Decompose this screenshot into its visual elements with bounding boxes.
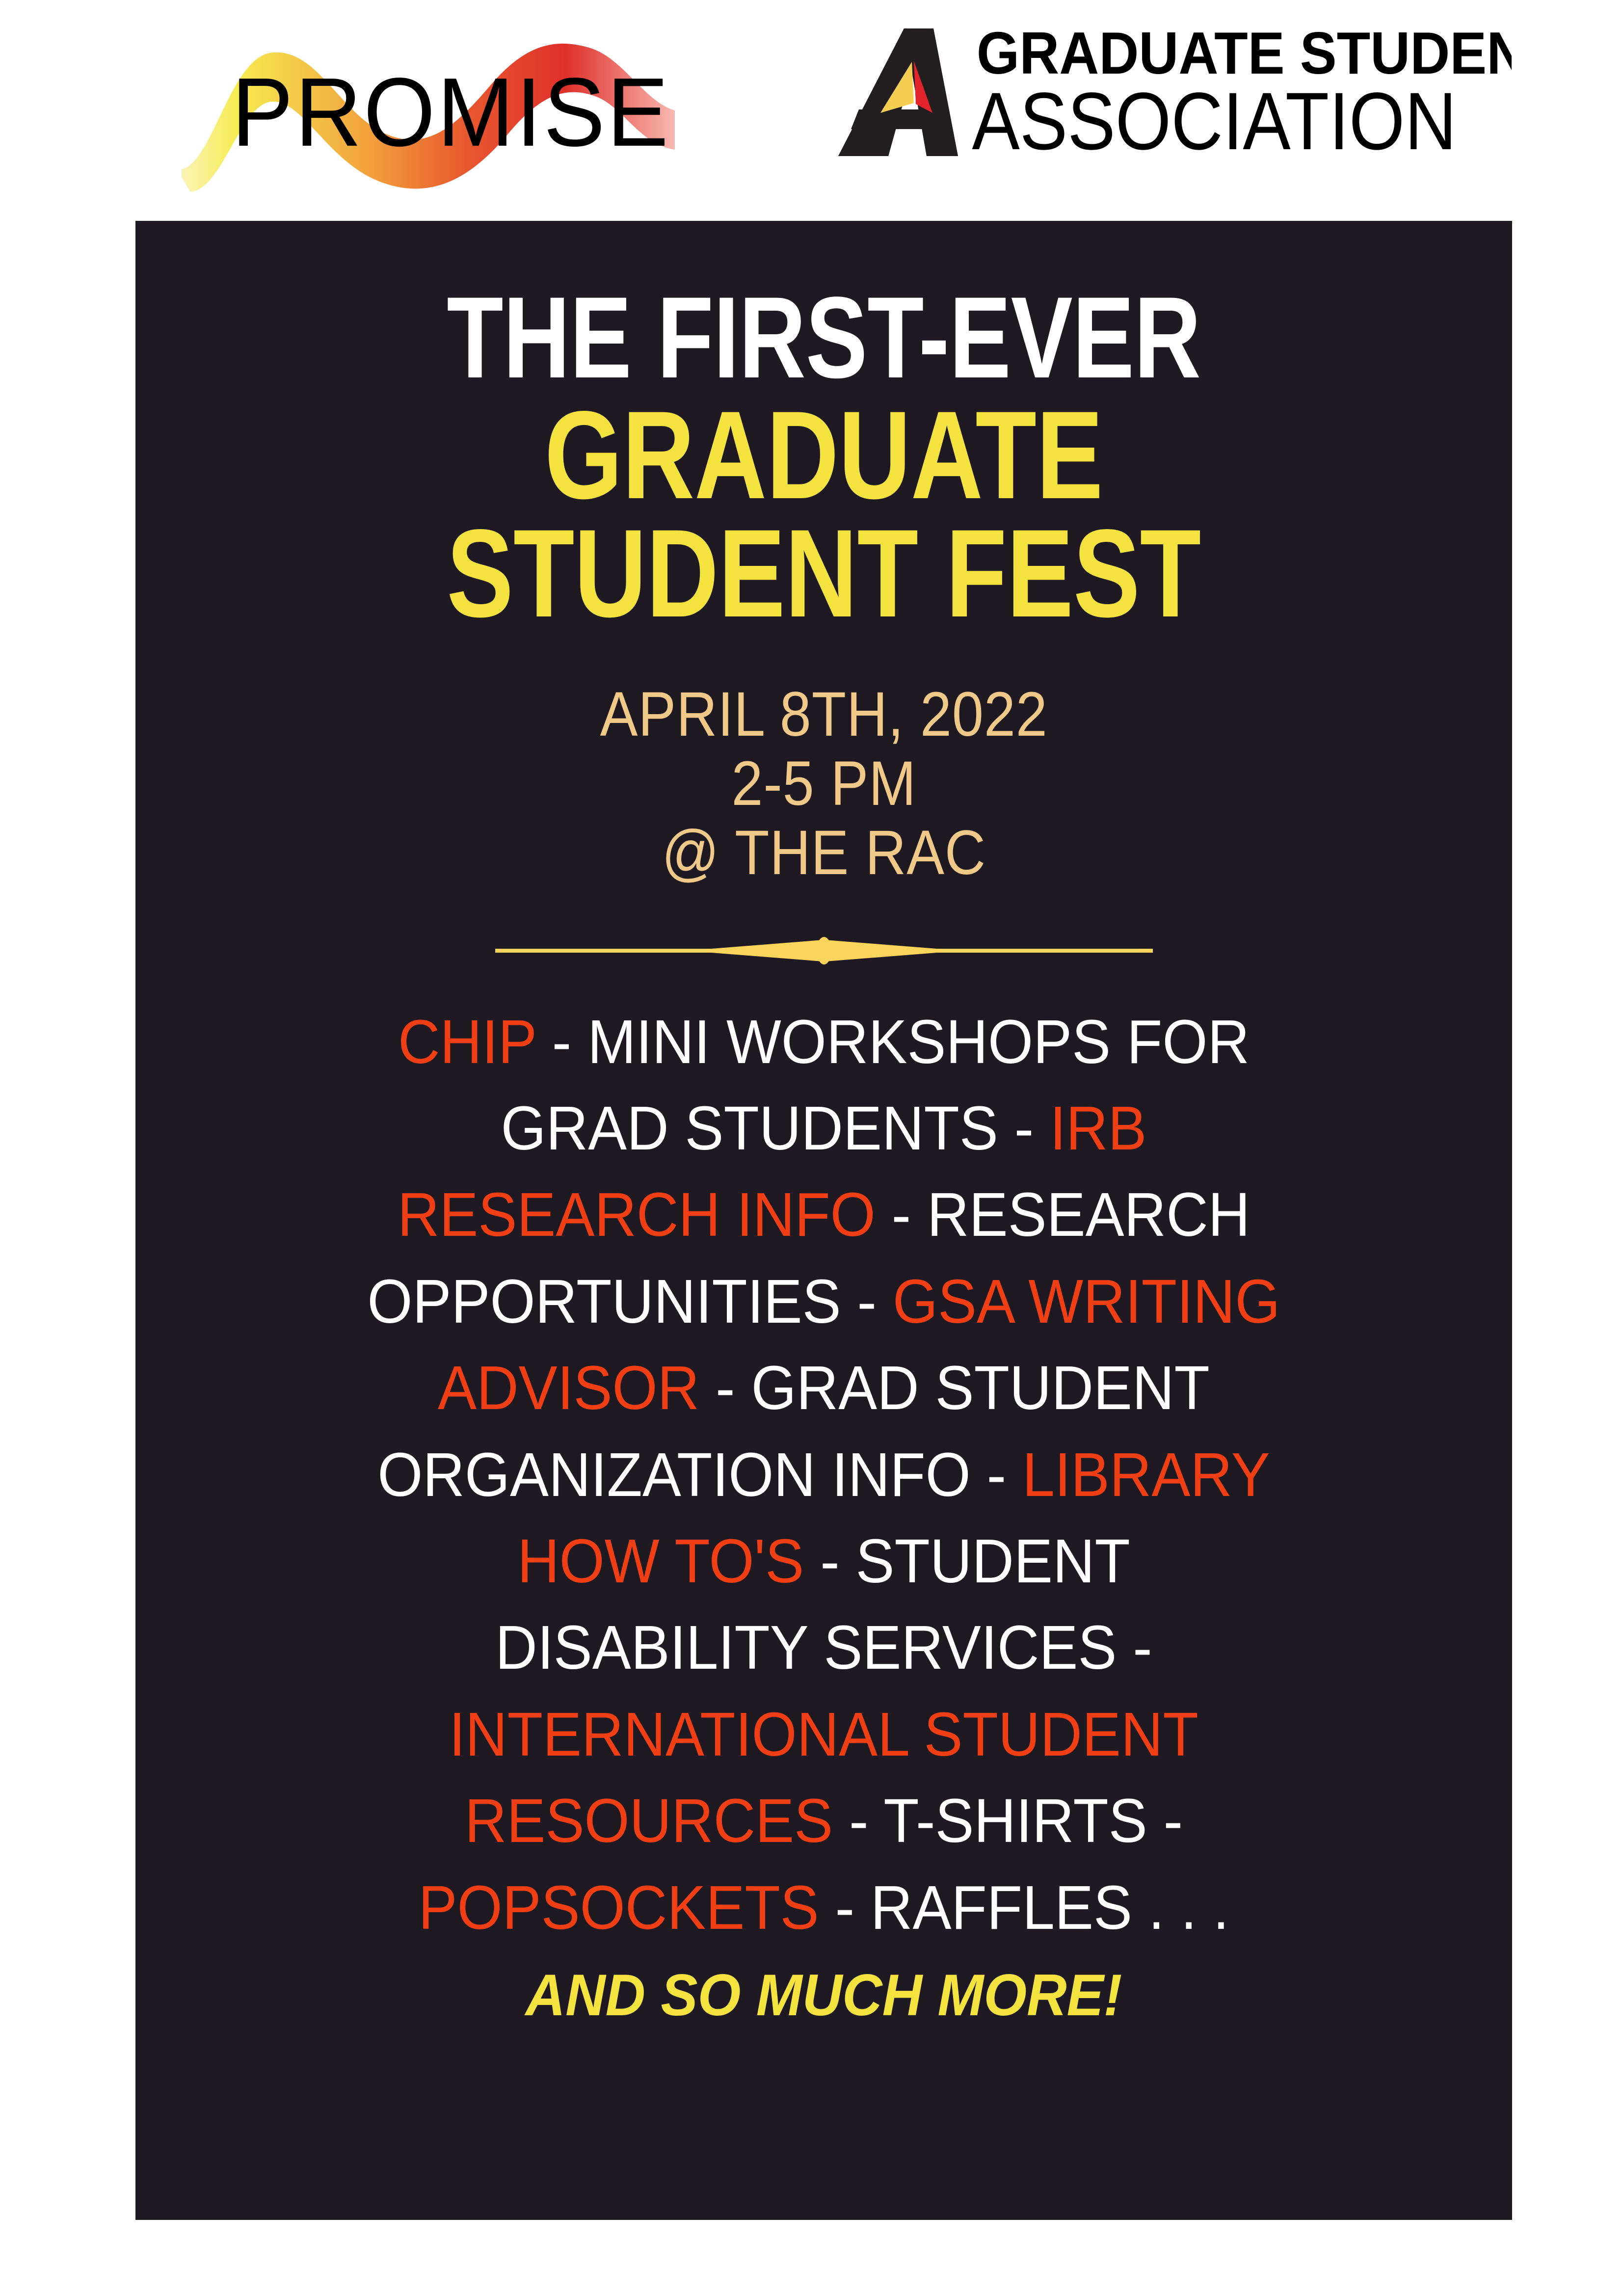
- offering-highlight: INTERNATIONAL STUDENT: [449, 1700, 1198, 1769]
- offerings-line: INTERNATIONAL STUDENT: [218, 1691, 1430, 1778]
- headline-line-graduate: GRADUATE: [309, 398, 1339, 513]
- offerings-line: OPPORTUNITIES - GSA WRITING: [218, 1258, 1430, 1345]
- offerings-line: ORGANIZATION INFO - LIBRARY: [218, 1432, 1430, 1518]
- offering-highlight: CHIP: [398, 1007, 536, 1076]
- gsa-line2-text: ASSOCIATION: [972, 76, 1456, 161]
- offering-text: - MINI WORKSHOPS FOR: [536, 1007, 1250, 1076]
- offerings-line: POPSOCKETS - RAFFLES . . .: [218, 1865, 1430, 1951]
- event-time: 2-5 PM: [600, 749, 1047, 819]
- headline-line-first-ever: THE FIRST-EVER: [309, 285, 1339, 391]
- offering-text: ORGANIZATION INFO -: [377, 1440, 1022, 1509]
- offerings-line: ADVISOR - GRAD STUDENT: [218, 1345, 1430, 1431]
- offering-highlight: GSA WRITING: [893, 1267, 1280, 1336]
- diamond-ornament-divider: [495, 931, 1153, 969]
- promise-wordmark: PROMISE: [232, 57, 670, 166]
- offerings-line: HOW TO'S - STUDENT: [218, 1518, 1430, 1604]
- offering-highlight: HOW TO'S: [517, 1526, 804, 1596]
- offering-highlight: LIBRARY: [1022, 1440, 1270, 1509]
- offering-text: - GRAD STUDENT: [699, 1353, 1210, 1422]
- poster-canvas: PROMISE GRADUATE STUDENT ASSOCIATION: [0, 0, 1623, 2296]
- promise-logo: PROMISE: [182, 27, 682, 194]
- event-details-block: APRIL 8TH, 2022 2-5 PM @ THE RAC: [575, 680, 1072, 887]
- event-location: @ THE RAC: [600, 819, 1047, 888]
- offerings-list: CHIP - MINI WORKSHOPS FORGRAD STUDENTS -…: [180, 999, 1468, 2033]
- offering-text: GRAD STUDENTS -: [501, 1094, 1050, 1163]
- headline-line-student-fest: STUDENT FEST: [309, 516, 1339, 632]
- offerings-line: DISABILITY SERVICES -: [218, 1604, 1430, 1691]
- gsa-a-monogram: [838, 28, 958, 156]
- offering-highlight: IRB: [1050, 1094, 1146, 1163]
- dark-panel: THE FIRST-EVER GRADUATE STUDENT FEST APR…: [135, 221, 1512, 2220]
- offering-text: - T-SHIRTS -: [833, 1786, 1183, 1855]
- offering-highlight: ADVISOR: [438, 1353, 699, 1422]
- offerings-line: RESOURCES - T-SHIRTS -: [218, 1778, 1430, 1864]
- offerings-closing-line: AND SO MUCH MORE!: [218, 1957, 1430, 2033]
- offering-highlight: RESEARCH INFO: [398, 1180, 876, 1249]
- offering-text: - RESEARCH: [876, 1180, 1250, 1249]
- offering-highlight: POPSOCKETS: [419, 1873, 819, 1942]
- offerings-line: RESEARCH INFO - RESEARCH: [218, 1172, 1430, 1258]
- offerings-line: CHIP - MINI WORKSHOPS FOR: [218, 999, 1430, 1085]
- offering-highlight: RESOURCES: [465, 1786, 833, 1855]
- gsa-logo: GRADUATE STUDENT ASSOCIATION: [829, 9, 1512, 161]
- logo-band: PROMISE GRADUATE STUDENT ASSOCIATION: [0, 0, 1623, 221]
- event-date: APRIL 8TH, 2022: [600, 680, 1047, 749]
- offering-text: - STUDENT: [804, 1526, 1130, 1596]
- offering-text: - RAFFLES . . .: [819, 1873, 1229, 1942]
- headline-block: THE FIRST-EVER GRADUATE STUDENT FEST: [180, 285, 1468, 631]
- offerings-line: GRAD STUDENTS - IRB: [218, 1085, 1430, 1172]
- offering-text: DISABILITY SERVICES -: [495, 1613, 1152, 1682]
- offering-text: OPPORTUNITIES -: [367, 1267, 892, 1336]
